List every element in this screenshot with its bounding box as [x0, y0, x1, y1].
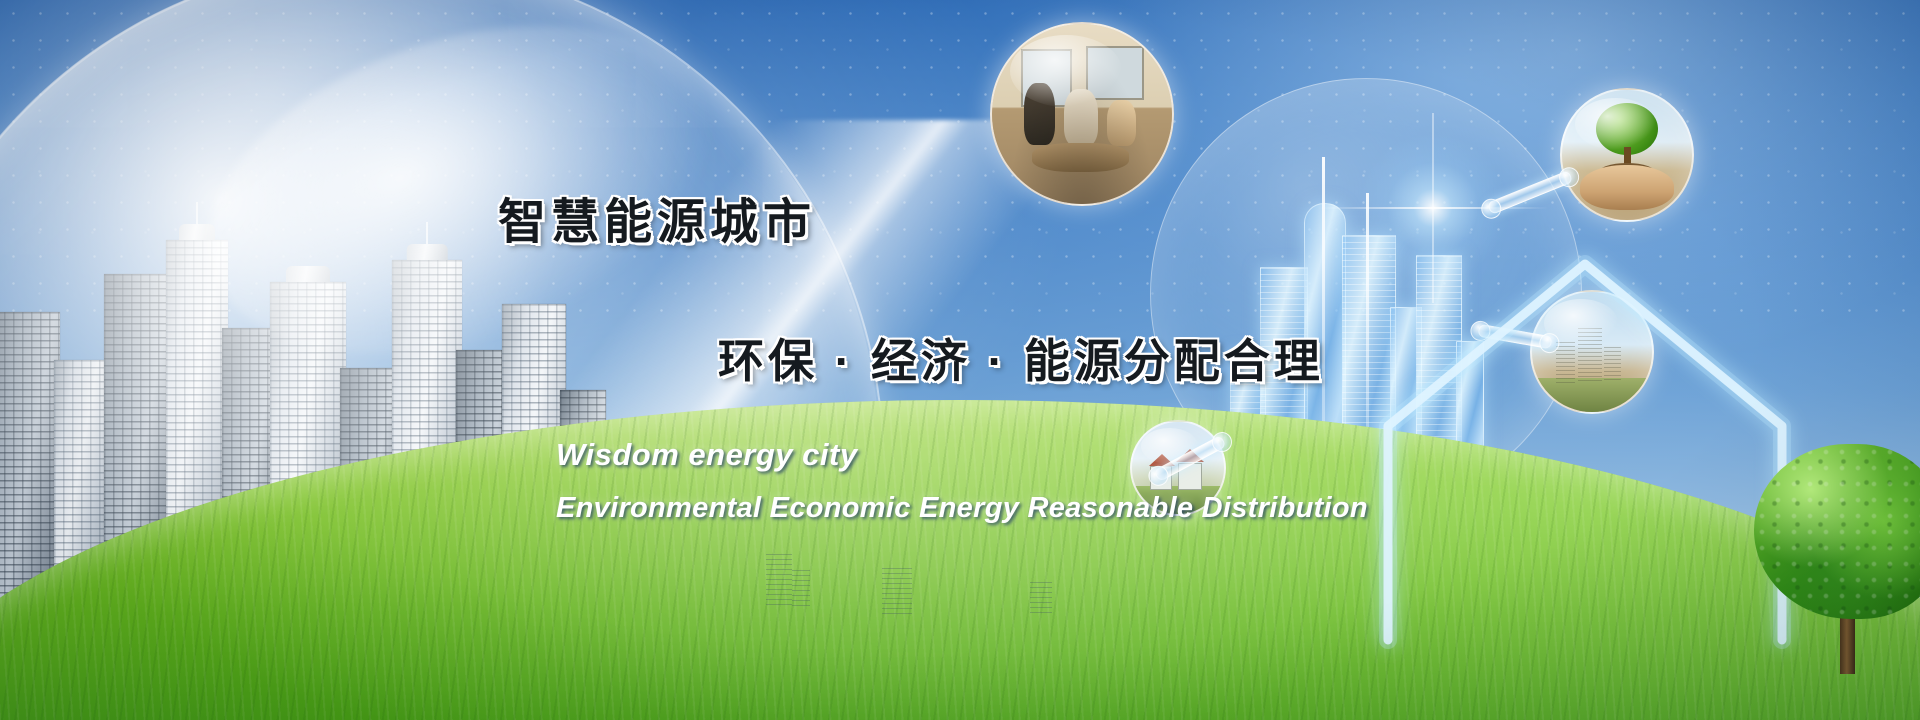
bubble-gloss-highlight [1010, 35, 1122, 107]
banner-subtitle-chinese: 环保 · 经济 · 能源分配合理 [718, 325, 1324, 391]
bubble-gloss-highlight [1575, 98, 1656, 150]
energy-city-banner: 智慧能源城市 环保 · 经济 · 能源分配合理 Wisdom energy ci… [0, 0, 1920, 720]
bubble-gloss-highlight [1141, 428, 1198, 465]
banner-tagline-english-2: Environmental Economic Energy Reasonable… [556, 492, 1368, 525]
banner-title-chinese: 智慧能源城市 [498, 182, 816, 252]
banner-tagline-english-1: Wisdom energy city [556, 437, 858, 473]
